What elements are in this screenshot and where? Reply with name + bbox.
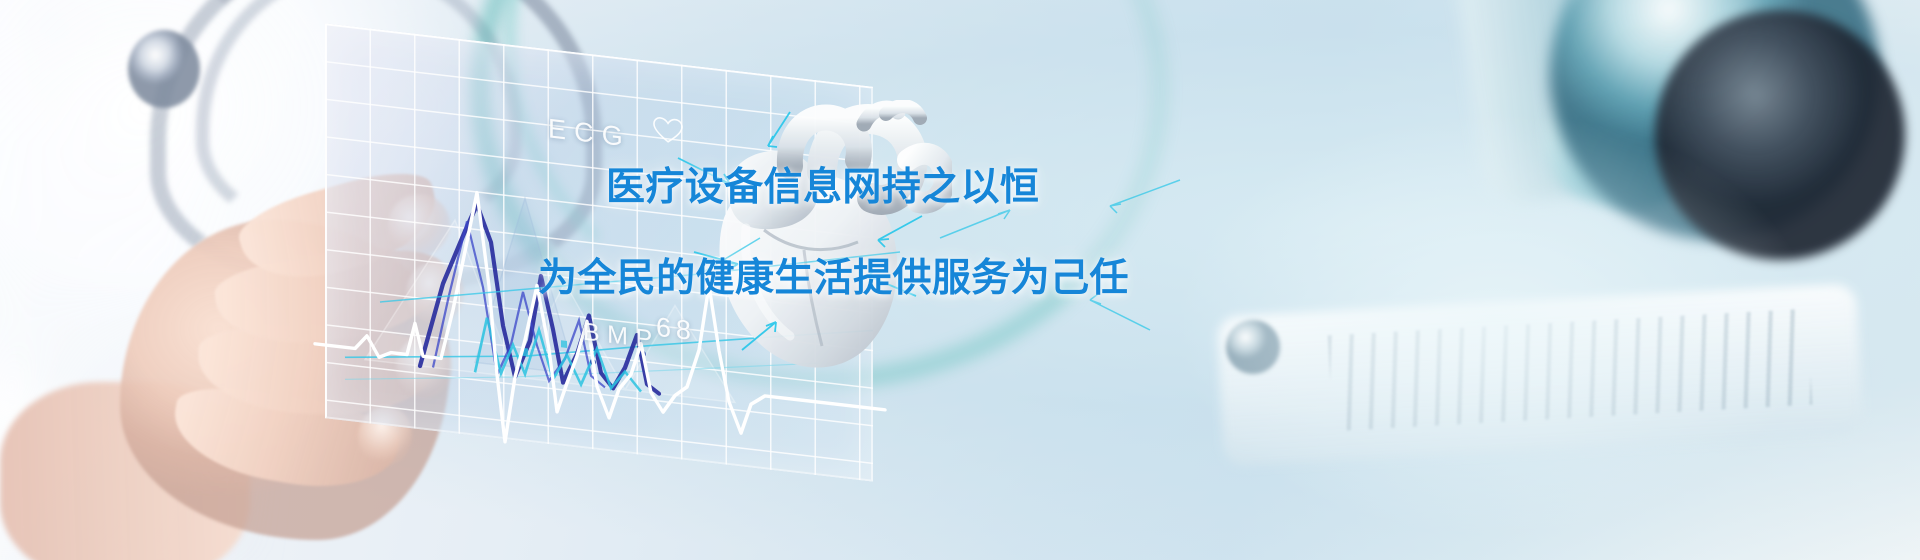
microscope — [1160, 0, 1920, 560]
ecg-marker-square-2 — [561, 340, 567, 348]
anatomical-heart-model — [672, 100, 952, 390]
stethoscope-chestpiece-icon — [128, 30, 200, 108]
heart-right-atrium — [728, 151, 819, 230]
medical-hero-banner: ECG BMP 68 — [0, 0, 1920, 560]
microscope-light-glow — [1160, 0, 1920, 560]
